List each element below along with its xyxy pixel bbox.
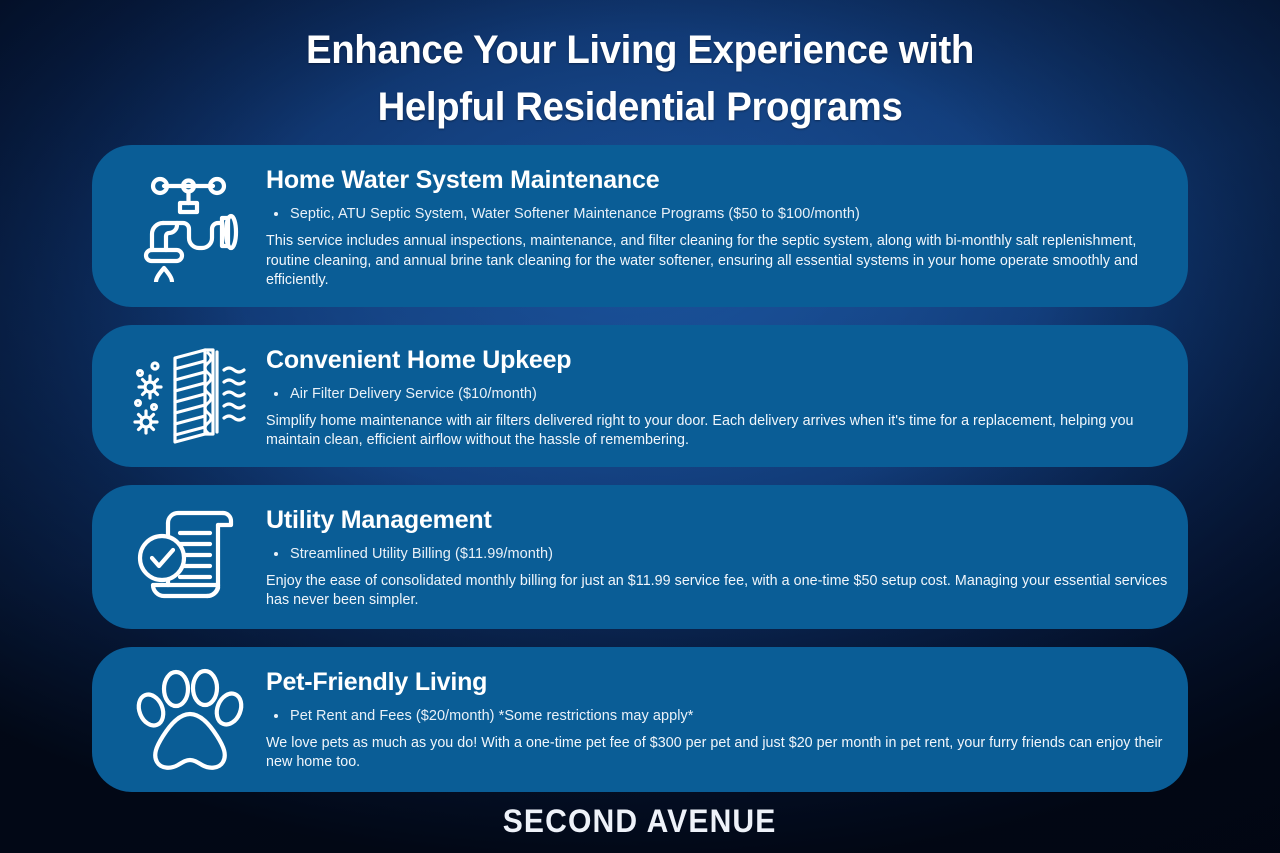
card-bullet-list: Air Filter Delivery Service ($10/month) (266, 384, 1168, 404)
card-body-text: This service includes annual inspections… (266, 232, 1168, 291)
card-body-text: Simplify home maintenance with air filte… (266, 412, 1168, 451)
infographic-page: Enhance Your Living Experience with Help… (0, 0, 1280, 853)
program-card-pet-friendly-living[interactable]: Pet-Friendly Living Pet Rent and Fees ($… (92, 647, 1188, 792)
program-card-text: Home Water System Maintenance Septic, AT… (266, 161, 1174, 291)
program-card-text: Convenient Home Upkeep Air Filter Delive… (266, 341, 1174, 451)
air-filter-icon (114, 344, 266, 448)
card-bullet: Streamlined Utility Billing ($11.99/mont… (266, 544, 1168, 564)
page-title-line-1: Enhance Your Living Experience with (26, 22, 1255, 79)
card-bullet-list: Pet Rent and Fees ($20/month) *Some rest… (266, 706, 1168, 726)
program-card-convenient-home-upkeep[interactable]: Convenient Home Upkeep Air Filter Delive… (92, 325, 1188, 467)
paw-print-icon (114, 667, 266, 771)
card-title: Pet-Friendly Living (266, 667, 1168, 697)
logo-text: SECOND AVENUE (503, 804, 777, 838)
program-card-text: Pet-Friendly Living Pet Rent and Fees ($… (266, 663, 1174, 773)
card-bullet: Air Filter Delivery Service ($10/month) (266, 384, 1168, 404)
program-card-utility-management[interactable]: Utility Management Streamlined Utility B… (92, 485, 1188, 629)
card-bullet-list: Septic, ATU Septic System, Water Softene… (266, 204, 1168, 224)
card-title: Utility Management (266, 505, 1168, 535)
document-check-icon (114, 501, 266, 613)
card-title: Convenient Home Upkeep (266, 345, 1168, 375)
card-bullet-list: Streamlined Utility Billing ($11.99/mont… (266, 544, 1168, 564)
card-bullet: Septic, ATU Septic System, Water Softene… (266, 204, 1168, 224)
page-title-line-2: Helpful Residential Programs (26, 79, 1255, 136)
program-card-home-water-system-maintenance[interactable]: Home Water System Maintenance Septic, AT… (92, 145, 1188, 307)
program-card-text: Utility Management Streamlined Utility B… (266, 501, 1174, 611)
card-body-text: We love pets as much as you do! With a o… (266, 734, 1168, 773)
card-title: Home Water System Maintenance (266, 165, 1168, 195)
card-body-text: Enjoy the ease of consolidated monthly b… (266, 572, 1168, 611)
faucet-icon (114, 170, 266, 282)
card-bullet: Pet Rent and Fees ($20/month) *Some rest… (266, 706, 1168, 726)
